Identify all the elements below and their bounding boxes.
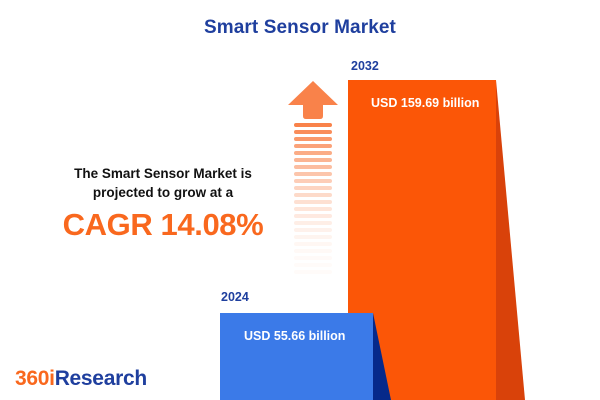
cagr-value: CAGR 14.08% [38,209,288,242]
brand-logo-secondary: Research [55,367,147,390]
arrow-rung [294,207,332,211]
arrow-rung [294,270,332,274]
brand-logo: 360iResearch [15,367,147,391]
arrow-rung [294,235,332,239]
arrow-rung [294,123,332,127]
growth-lead-line-1: The Smart Sensor Market is [38,165,288,184]
growth-lead-line-2: projected to grow at a [38,184,288,203]
growth-statement: The Smart Sensor Market is projected to … [38,165,288,242]
growth-arrow [287,80,339,288]
arrow-rung [294,249,332,253]
bar-value-label-2024: USD 55.66 billion [244,329,345,343]
up-arrow-icon [287,80,339,120]
arrow-rung [294,228,332,232]
infographic-canvas: Smart Sensor Market The Smart Sensor Mar… [0,0,600,400]
arrow-rung [294,179,332,183]
arrow-rung [294,200,332,204]
brand-logo-primary: 360i [15,367,55,390]
bar-year-label-2032: 2032 [351,59,379,73]
bar-value-label-2032: USD 159.69 billion [371,96,479,110]
arrow-rung [294,151,332,155]
page-title: Smart Sensor Market [0,17,600,39]
arrow-rung [294,214,332,218]
growth-lead-text: The Smart Sensor Market is projected to … [38,165,288,202]
arrow-rung [294,158,332,162]
arrow-rung [294,137,332,141]
bar-2032-side-face [496,80,525,400]
bar-2024 [220,313,373,400]
arrow-rung [294,221,332,225]
arrow-rung [294,165,332,169]
arrow-rung [294,263,332,267]
arrow-rung [294,193,332,197]
arrow-rungs [294,123,332,288]
arrow-rung [294,242,332,246]
bar-year-label-2024: 2024 [221,290,249,304]
bar-2024-front-face [220,313,373,400]
arrow-rung [294,144,332,148]
arrow-rung [294,172,332,176]
arrow-rung [294,130,332,134]
arrow-rung [294,256,332,260]
arrow-rung [294,186,332,190]
